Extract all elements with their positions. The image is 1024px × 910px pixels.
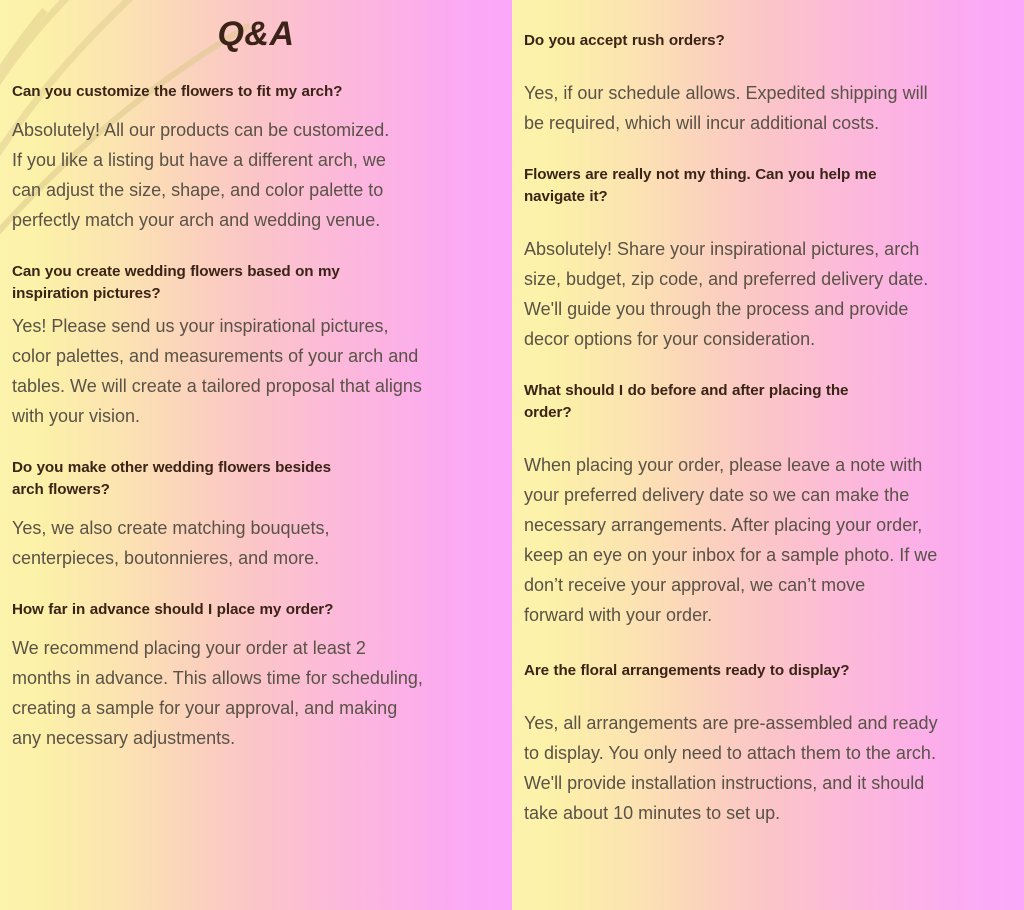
left-column-content: Q&A Can you customize the flowers to fit… xyxy=(0,14,512,753)
question-heading: How far in advance should I place my ord… xyxy=(12,599,512,621)
answer-text: Yes, all arrangements are pre-assembled … xyxy=(524,708,1024,828)
answer-text: Absolutely! All our products can be cust… xyxy=(12,115,512,235)
qa-infographic: Q&A Can you customize the flowers to fit… xyxy=(0,0,1024,910)
answer-text: Absolutely! Share your inspirational pic… xyxy=(524,234,1024,354)
question-heading: Can you create wedding flowers based on … xyxy=(12,261,512,305)
question-heading: Are the floral arrangements ready to dis… xyxy=(524,660,1024,682)
page-title: Q&A xyxy=(12,14,512,55)
question-heading: Do you accept rush orders? xyxy=(524,30,1024,52)
left-panel: Q&A Can you customize the flowers to fit… xyxy=(0,0,512,910)
answer-text: We recommend placing your order at least… xyxy=(12,633,512,753)
answer-text: When placing your order, please leave a … xyxy=(524,450,1024,630)
question-heading: Flowers are really not my thing. Can you… xyxy=(524,164,1024,208)
answer-text: Yes, we also create matching bouquets, c… xyxy=(12,513,512,573)
right-column-content: Do you accept rush orders? Yes, if our s… xyxy=(512,30,1024,828)
question-heading: What should I do before and after placin… xyxy=(524,380,1024,424)
answer-text: Yes! Please send us your inspirational p… xyxy=(12,311,512,431)
question-heading: Do you make other wedding flowers beside… xyxy=(12,457,512,501)
answer-text: Yes, if our schedule allows. Expedited s… xyxy=(524,78,1024,138)
question-heading: Can you customize the flowers to fit my … xyxy=(12,81,512,103)
right-panel: Do you accept rush orders? Yes, if our s… xyxy=(512,0,1024,910)
